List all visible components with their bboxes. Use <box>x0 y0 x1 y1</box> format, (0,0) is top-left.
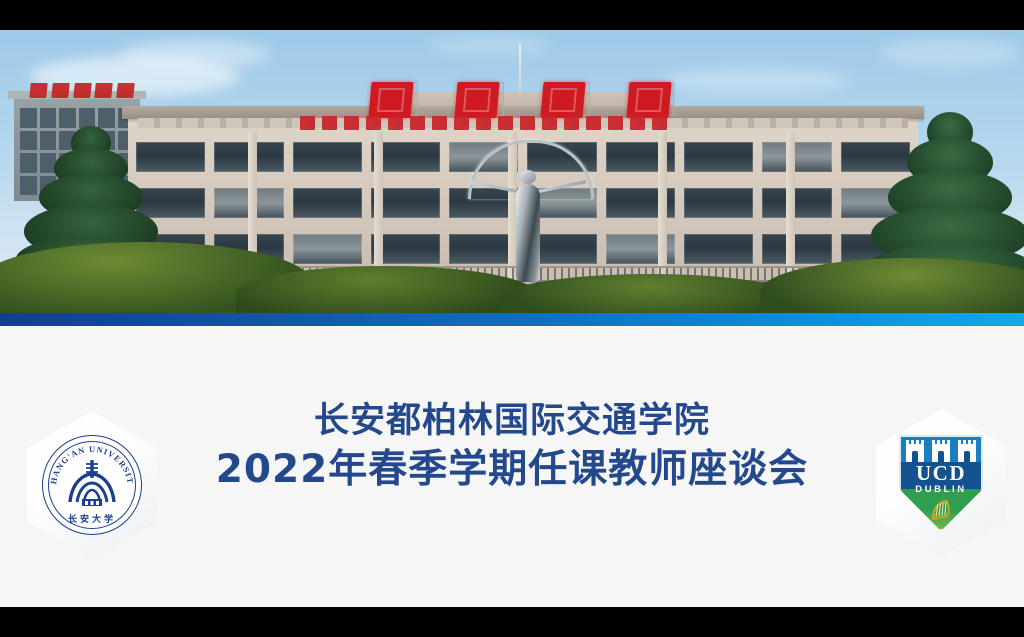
ucd-city: DUBLIN <box>899 485 983 495</box>
cloud-shape <box>430 34 550 56</box>
sculpture-head <box>520 170 536 184</box>
harp-icon <box>929 498 953 522</box>
page-title-line-2: 2022年春季学期任课教师座谈会 <box>0 444 1024 495</box>
slide-title-group: 长安都柏林国际交通学院 2022年春季学期任课教师座谈会 <box>0 398 1024 496</box>
roof-sign-latin <box>300 115 730 131</box>
ucd-acronym: UCD <box>899 463 983 484</box>
cloud-shape <box>660 68 850 94</box>
roof-sign-chinese <box>370 78 670 118</box>
sculpture-body <box>516 184 540 284</box>
letterbox-bar-top <box>0 0 1024 30</box>
page-title-line-1: 长安都柏林国际交通学院 <box>0 398 1024 444</box>
campus-photo-banner <box>0 30 1024 313</box>
presentation-slide: CHANG'AN UNIVERSITY 长安大学 <box>0 30 1024 607</box>
letterbox-bar-bottom <box>0 607 1024 637</box>
slide-canvas: CHANG'AN UNIVERSITY 长安大学 <box>0 0 1024 637</box>
seal-chinese-name: 长安大学 <box>43 512 141 525</box>
cloud-shape <box>120 40 270 68</box>
caption-area: CHANG'AN UNIVERSITY 长安大学 <box>0 326 1024 607</box>
rear-building-sign <box>30 82 134 98</box>
ucd-shield: UCD DUBLIN <box>899 435 983 531</box>
blue-gradient-divider <box>0 313 1024 326</box>
cloud-shape <box>880 38 1020 68</box>
hedge-row <box>236 266 536 313</box>
ucd-castle-towers-icon <box>906 442 976 462</box>
